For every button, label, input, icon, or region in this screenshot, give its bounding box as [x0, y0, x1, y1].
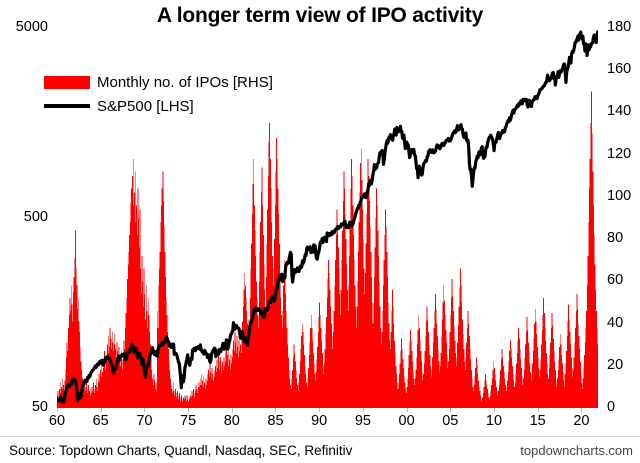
y-right-tick-120: 120: [607, 146, 631, 162]
x-tick-75: 75: [168, 413, 208, 429]
plot-area: [57, 28, 598, 408]
x-tick-mark: [188, 408, 189, 412]
page-title: A longer term view of IPO activity: [0, 4, 640, 28]
x-tick-65: 65: [81, 413, 121, 429]
x-tick-mark: [450, 408, 451, 412]
x-tick-mark: [581, 408, 582, 412]
y-right-tick-100: 100: [607, 188, 631, 204]
x-tick-mark: [319, 408, 320, 412]
x-tick-85: 85: [255, 413, 295, 429]
y-left-tick-500: 500: [0, 209, 48, 225]
x-tick-15: 15: [518, 413, 558, 429]
x-tick-90: 90: [299, 413, 339, 429]
x-tick-60: 60: [37, 413, 77, 429]
x-tick-mark: [363, 408, 364, 412]
y-right-tick-60: 60: [607, 272, 623, 288]
x-tick-00: 00: [387, 413, 427, 429]
x-tick-05: 05: [430, 413, 470, 429]
footer-site-text: topdowncharts.com: [520, 443, 633, 458]
x-tick-mark: [232, 408, 233, 412]
x-tick-10: 10: [474, 413, 514, 429]
y-right-tick-140: 140: [607, 103, 631, 119]
y-right-tick-20: 20: [607, 357, 623, 373]
footer-source-text: Source: Topdown Charts, Quandl, Nasdaq, …: [9, 443, 352, 458]
y-right-tick-0: 0: [607, 399, 615, 415]
x-tick-70: 70: [124, 413, 164, 429]
x-tick-95: 95: [343, 413, 383, 429]
y-left-tick-5000: 5000: [0, 19, 48, 35]
x-tick-80: 80: [212, 413, 252, 429]
x-tick-mark: [57, 408, 58, 412]
ipo-bars-series: [57, 91, 598, 408]
ipo-activity-chart: A longer term view of IPO activity Month…: [0, 0, 640, 463]
y-right-tick-180: 180: [607, 19, 631, 35]
x-tick-mark: [538, 408, 539, 412]
y-right-tick-80: 80: [607, 230, 623, 246]
footer-divider: [0, 436, 640, 437]
y-right-tick-160: 160: [607, 61, 631, 77]
x-tick-mark: [407, 408, 408, 412]
x-tick-mark: [494, 408, 495, 412]
y-right-tick-40: 40: [607, 315, 623, 331]
plot-svg: [57, 28, 598, 408]
x-tick-mark: [275, 408, 276, 412]
x-tick-mark: [144, 408, 145, 412]
x-tick-20: 20: [561, 413, 601, 429]
x-tick-mark: [101, 408, 102, 412]
